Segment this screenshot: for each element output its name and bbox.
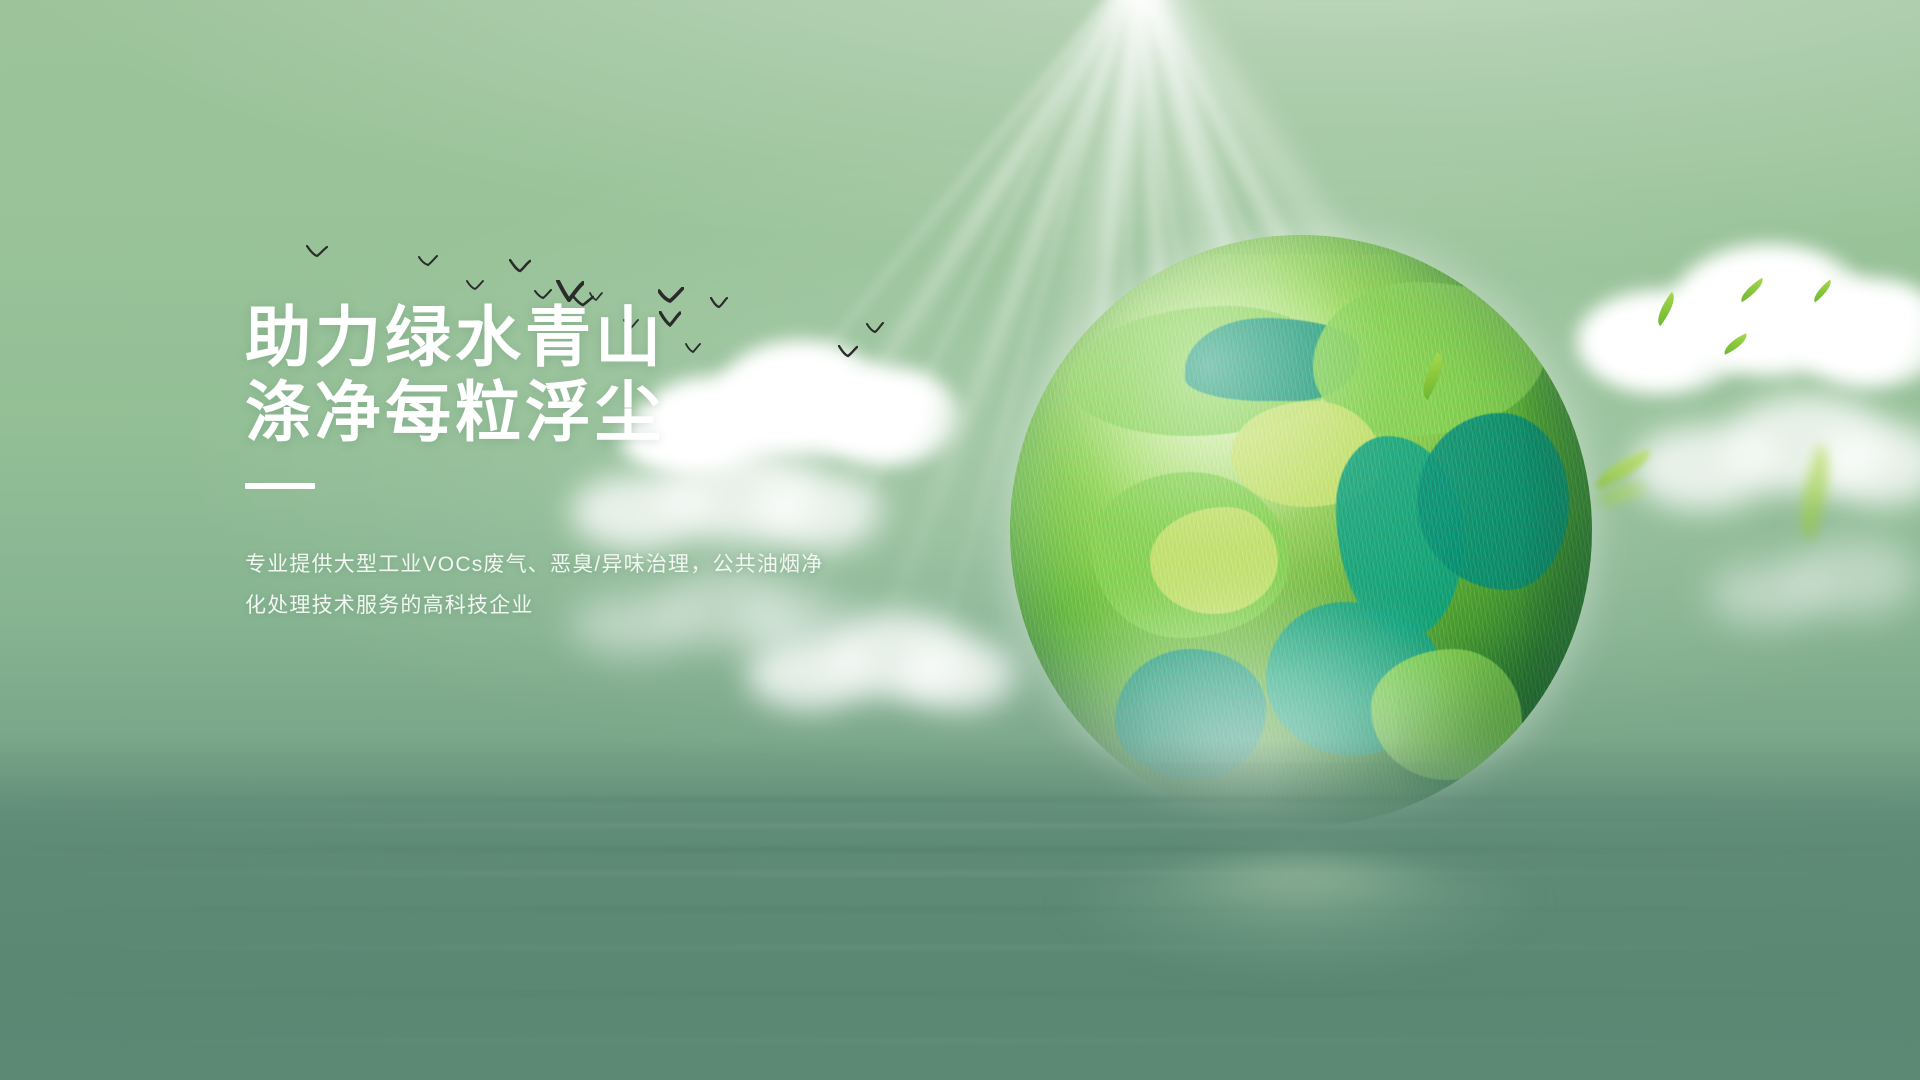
page-title: 助力绿水青山 涤净每粒浮尘 (245, 300, 885, 449)
water-surface (0, 740, 1920, 1080)
floating-leaf (1651, 292, 1681, 326)
headline-line-1: 助力绿水青山 (245, 300, 885, 375)
bird-icon (466, 280, 484, 292)
bird-icon (509, 259, 531, 273)
headline-line-2: 涤净每粒浮尘 (245, 375, 885, 450)
floating-leaf (1809, 279, 1835, 302)
banner-copy: 助力绿水青山 涤净每粒浮尘 专业提供大型工业VOCs废气、恶臭/异味治理，公共油… (245, 300, 885, 627)
floating-leaf (1737, 278, 1768, 302)
bird-icon (418, 255, 438, 268)
cloud-shape (1620, 380, 1920, 520)
bird-icon (306, 245, 328, 259)
description-line-1: 专业提供大型工业VOCs废气、恶臭/异味治理，公共油烟净 (245, 545, 885, 586)
floating-leaf (1590, 449, 1656, 489)
cloud-shape (1700, 530, 1920, 640)
floating-leaf (1597, 484, 1646, 504)
floating-leaf (1783, 443, 1846, 541)
description-line-2: 化处理技术服务的高科技企业 (245, 586, 885, 627)
banner-description: 专业提供大型工业VOCs废气、恶臭/异味治理，公共油烟净 化处理技术服务的高科技… (245, 545, 885, 627)
green-earth-globe (1010, 235, 1592, 827)
bird-icon (556, 280, 584, 302)
cloud-shape (1560, 230, 1920, 410)
floating-leaf (1720, 333, 1750, 354)
title-divider (245, 483, 315, 489)
hero-banner: 助力绿水青山 涤净每粒浮尘 专业提供大型工业VOCs废气、恶臭/异味治理，公共油… (0, 0, 1920, 1080)
globe-water-reflection (1020, 860, 1580, 1010)
bird-icon (534, 289, 552, 300)
